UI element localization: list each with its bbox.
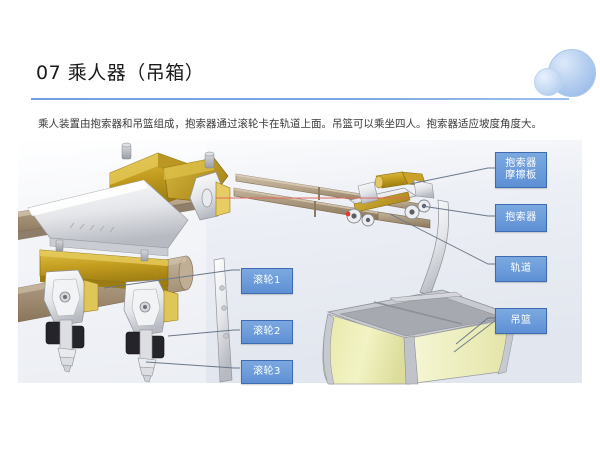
blue-gradient-circle-small-icon — [534, 68, 562, 96]
callout-roller-1[interactable]: 滚轮1 — [241, 268, 293, 294]
callout-grip-label: 抱索器 — [505, 212, 537, 224]
callout-track[interactable]: 轨道 — [495, 256, 547, 282]
callout-cabin[interactable]: 吊篮 — [495, 308, 547, 334]
page-title: 07 乘人器（吊箱） — [36, 58, 204, 85]
blue-gradient-circle-large-icon — [548, 49, 596, 97]
callout-track-label: 轨道 — [511, 263, 532, 275]
callout-roller-3[interactable]: 滚轮3 — [241, 360, 293, 384]
callout-roller-2[interactable]: 滚轮2 — [241, 320, 293, 344]
callout-grip-friction-plate-label-line1: 抱索器 — [505, 158, 537, 171]
description-text: 乘人装置由抱索器和吊篮组成，抱索器通过滚轮卡在轨道上面。吊篮可以乘坐四人。抱索器… — [38, 117, 568, 132]
callout-roller-2-label: 滚轮2 — [253, 326, 281, 338]
callout-grip-friction-plate[interactable]: 抱索器 摩擦板 — [495, 152, 547, 188]
callout-grip[interactable]: 抱索器 — [495, 204, 547, 232]
callout-roller-3-label: 滚轮3 — [253, 366, 281, 378]
callout-roller-1-label: 滚轮1 — [253, 275, 281, 287]
callout-grip-friction-plate-label-line2: 摩擦板 — [505, 170, 537, 183]
slide-root: 07 乘人器（吊箱） 乘人装置由抱索器和吊篮组成，抱索器通过滚轮卡在轨道上面。吊… — [0, 0, 600, 450]
title-divider — [31, 98, 569, 100]
callout-cabin-label: 吊篮 — [511, 315, 532, 327]
